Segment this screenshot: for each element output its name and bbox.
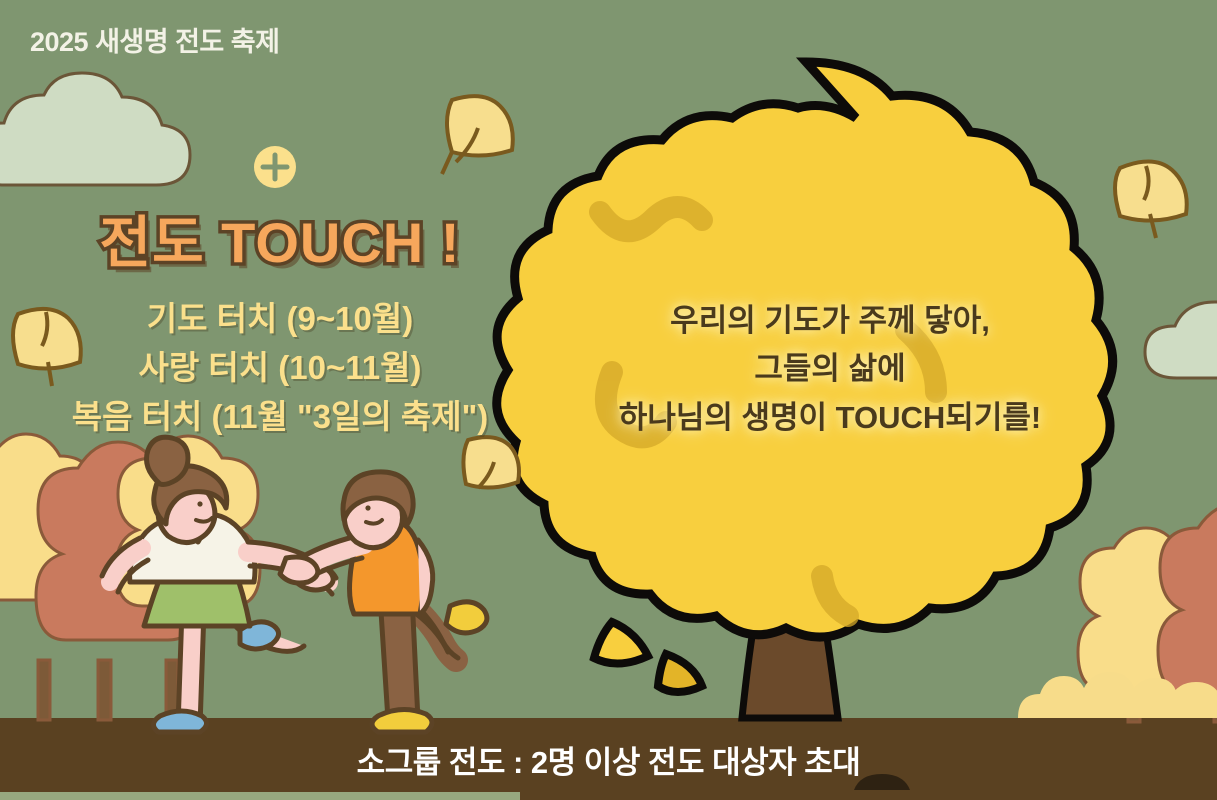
tree-message-line-1: 우리의 기도가 주께 닿아, (585, 297, 1075, 345)
poster-canvas: 2025 새생명 전도 축제 전도 TOUCH ! 기도 터치 (9~10월) … (0, 0, 1217, 800)
schedule-list: 기도 터치 (9~10월) 사랑 터치 (10~11월) 복음 터치 (11월 … (40, 295, 520, 441)
header-title: 2025 새생명 전도 축제 (30, 20, 279, 59)
page-title: 전도 TOUCH ! (60, 198, 500, 279)
tree-message-line-3: 하나님의 생명이 TOUCH되기를! (585, 394, 1075, 442)
schedule-line-2: 사랑 터치 (10~11월) (40, 344, 520, 393)
schedule-line-1: 기도 터치 (9~10월) (40, 295, 520, 344)
tree-message-line-2: 그들의 삶에 (585, 345, 1075, 393)
plus-badge-icon (252, 144, 298, 190)
ginkgo-leaf-icon-near-trunk (463, 437, 519, 488)
bottom-banner-text: 소그룹 전도 : 2명 이상 전도 대상자 초대 (0, 737, 1217, 782)
schedule-line-3: 복음 터치 (11월 "3일의 축제") (40, 393, 520, 442)
bottom-edge-strip (0, 792, 520, 800)
tree-message-block: 우리의 기도가 주께 닿아, 그들의 삶에 하나님의 생명이 TOUCH되기를! (585, 297, 1075, 442)
